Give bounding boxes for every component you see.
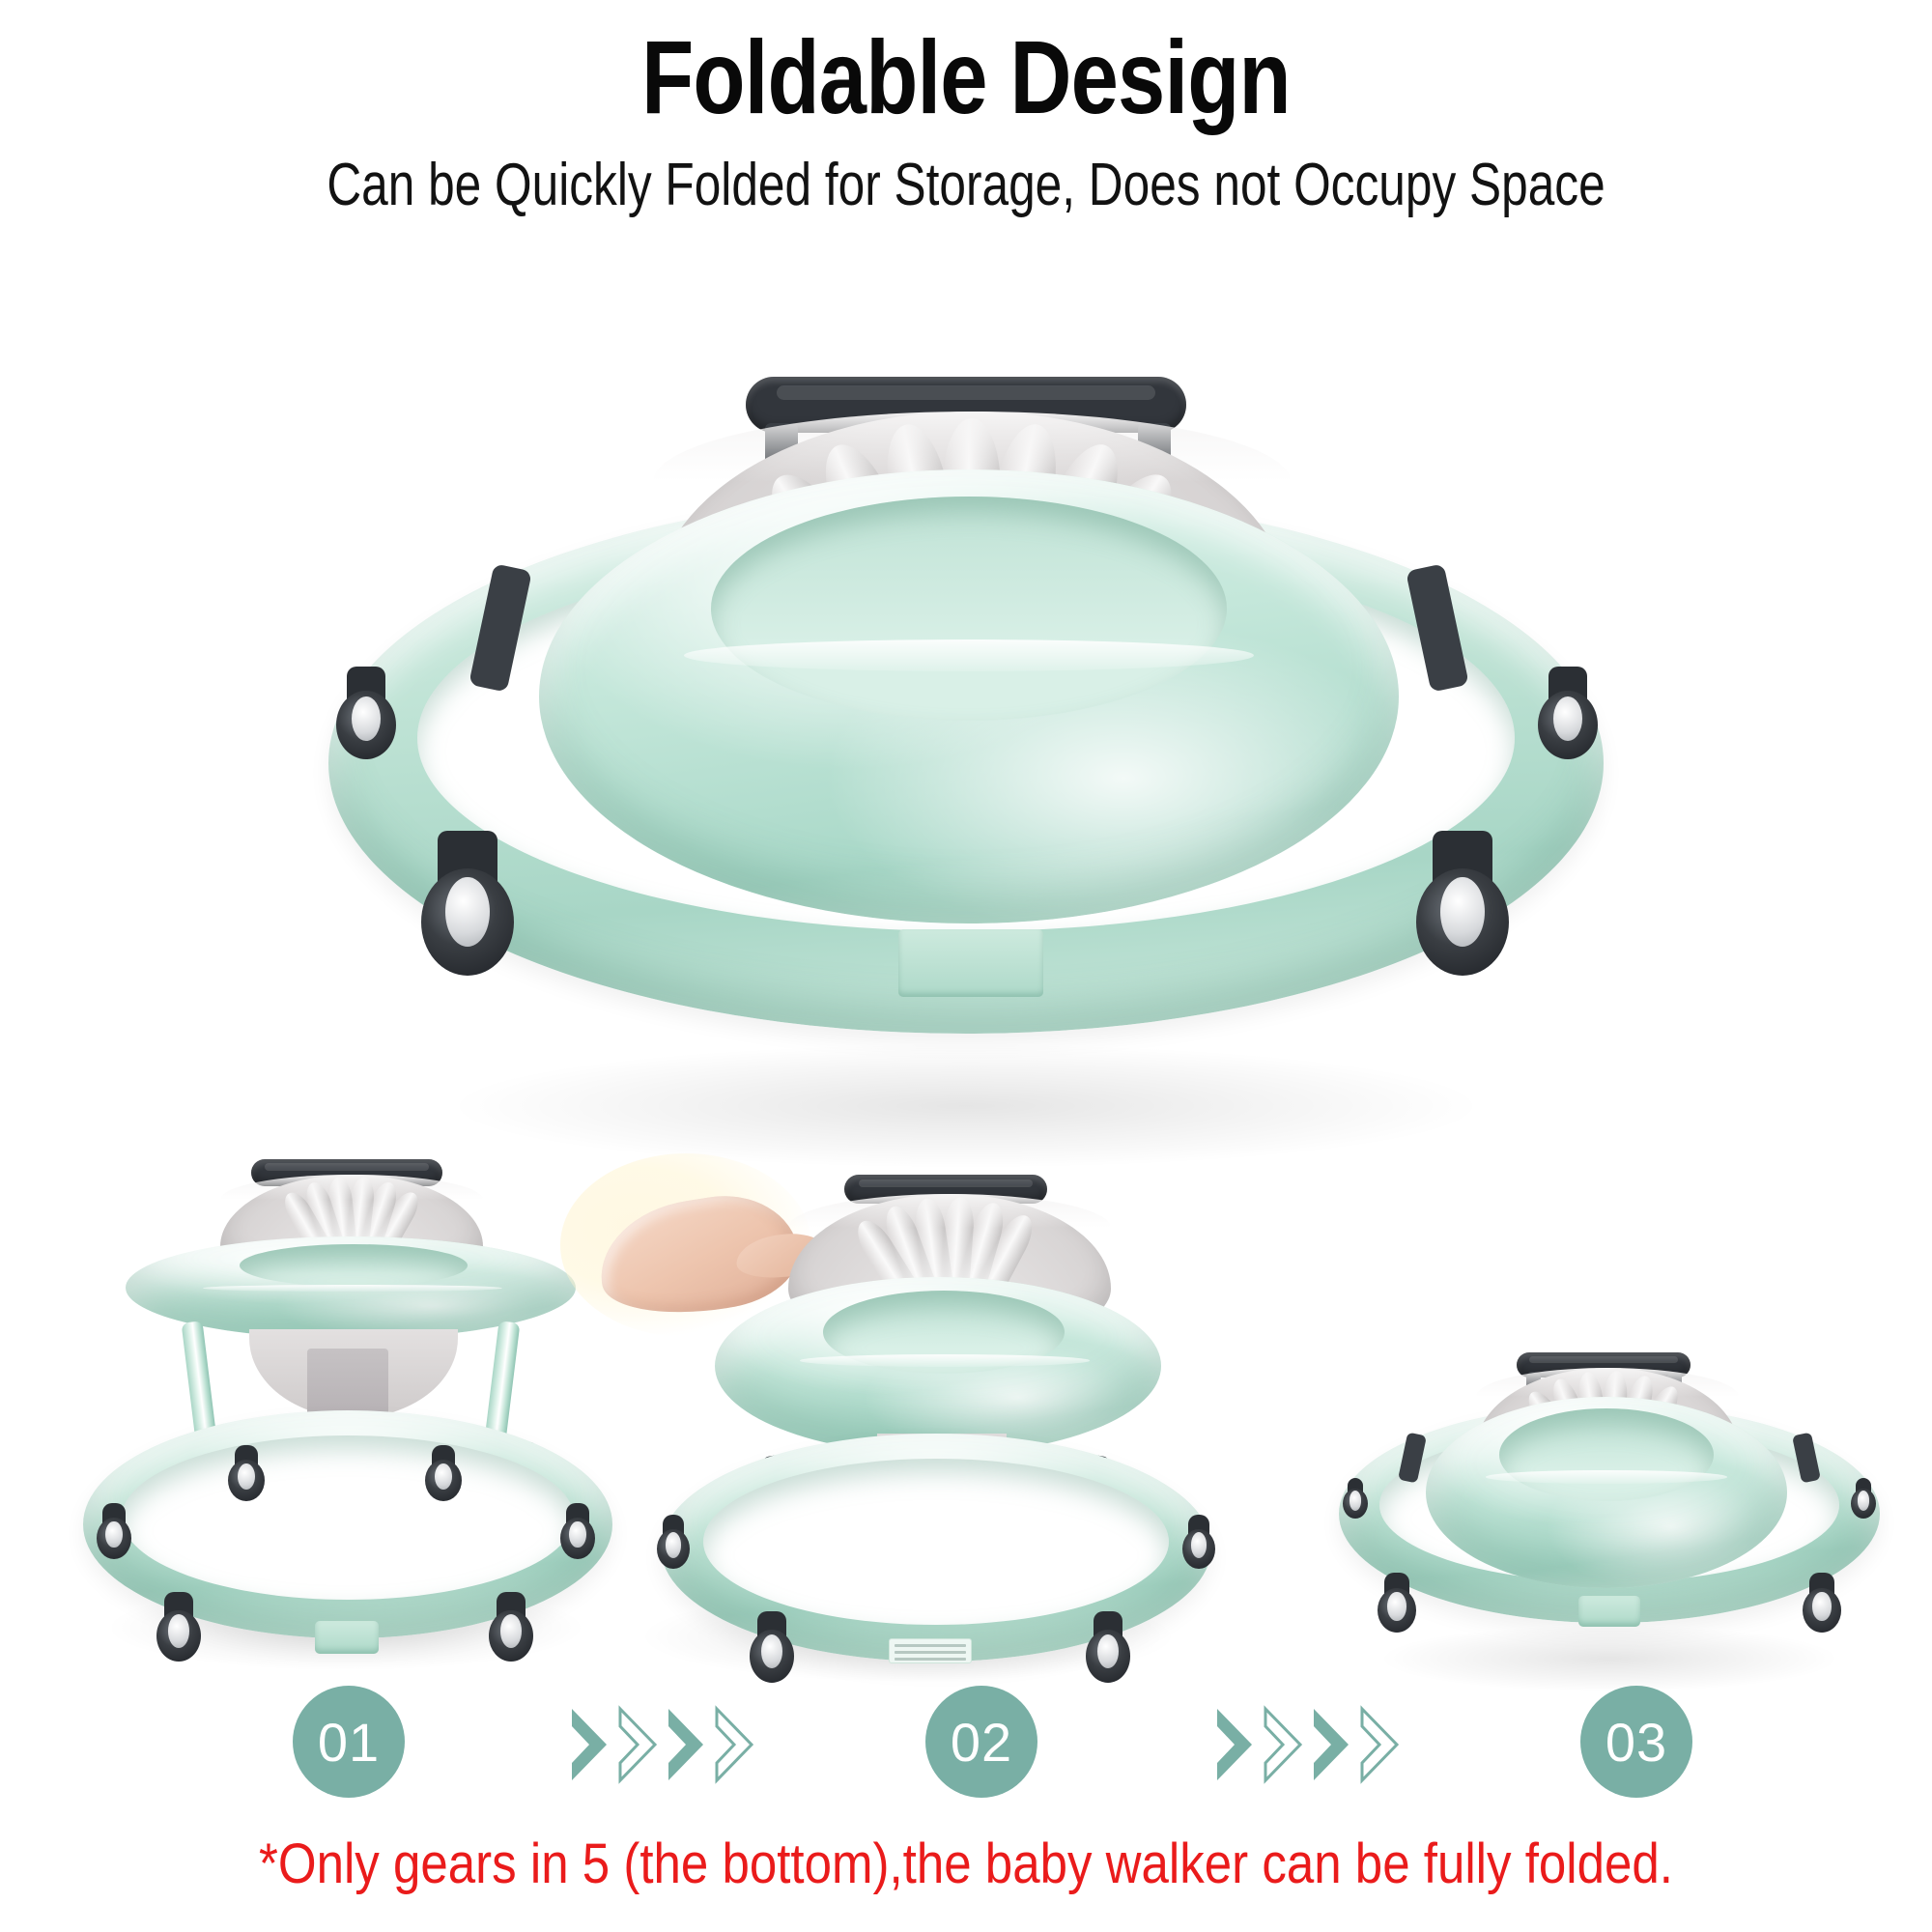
step2-wheel-right: [1182, 1515, 1215, 1569]
step3-wheel-rear-left: [1343, 1478, 1368, 1519]
step1-wheel-mid-right: [560, 1503, 595, 1559]
header: Foldable Design Can be Quickly Folded fo…: [0, 23, 1932, 219]
infographic-page: Foldable Design Can be Quickly Folded fo…: [0, 0, 1932, 1932]
step3-wheel-rear-right: [1851, 1478, 1876, 1519]
step-image-01: [75, 1159, 616, 1671]
step3-wheel-front-right: [1803, 1573, 1841, 1633]
hero-wheel-rear-left: [336, 667, 396, 759]
step3-inner-tray: [1426, 1397, 1787, 1588]
step-badge-03[interactable]: 03: [1580, 1686, 1692, 1798]
step-image-02: [599, 1175, 1217, 1677]
step-badge-03-label: 03: [1605, 1711, 1667, 1774]
step-image-03: [1339, 1352, 1880, 1681]
step1-wheel-inner-left: [228, 1445, 265, 1501]
step-badge-01-label: 01: [318, 1711, 380, 1774]
chevron-right-icon-filled: [1310, 1705, 1352, 1784]
step-indicator-row: 01 02: [0, 1676, 1932, 1831]
arrow-group-1: [568, 1701, 755, 1788]
chevron-right-icon-outline: [1358, 1705, 1401, 1784]
step3-base-block: [1578, 1596, 1640, 1627]
hero-ground-shadow: [444, 1043, 1488, 1169]
step1-wheel-mid-left: [97, 1503, 131, 1559]
step-badge-02-label: 02: [951, 1711, 1012, 1774]
page-subtitle: Can be Quickly Folded for Storage, Does …: [193, 153, 1739, 218]
chevron-right-icon-filled: [1213, 1705, 1256, 1784]
step1-wheel-front-left: [156, 1592, 201, 1662]
chevron-right-icon-filled: [568, 1705, 611, 1784]
step2-upper-tray: [715, 1277, 1161, 1455]
hero-inner-tray: [539, 469, 1399, 923]
step2-product-label: [889, 1638, 972, 1663]
chevron-right-icon-outline: [616, 1705, 659, 1784]
step2-wheel-left: [657, 1515, 690, 1569]
page-title: Foldable Design: [174, 23, 1758, 131]
hero-wheel-front-left: [421, 831, 514, 976]
hero-wheel-front-right: [1416, 831, 1509, 976]
step3-wheel-front-left: [1378, 1573, 1416, 1633]
step-badge-02[interactable]: 02: [925, 1686, 1037, 1798]
step1-wheel-inner-right: [425, 1445, 462, 1501]
footnote-text: *Only gears in 5 (the bottom),the baby w…: [116, 1835, 1816, 1894]
hero-base-block: [898, 929, 1043, 997]
step1-base-block: [315, 1621, 379, 1654]
step1-seat-strap: [307, 1349, 388, 1418]
arrow-group-2: [1213, 1701, 1401, 1788]
step2-wheel-front-right: [1086, 1611, 1130, 1683]
chevron-right-icon-filled: [665, 1705, 707, 1784]
step2-wheel-front-left: [750, 1611, 794, 1683]
chevron-right-icon-outline: [713, 1705, 755, 1784]
step1-wheel-front-right: [489, 1592, 533, 1662]
hero-tray-opening: [711, 497, 1227, 721]
hero-wheel-rear-right: [1538, 667, 1598, 759]
hero-product-image: [328, 377, 1604, 1159]
chevron-right-icon-outline: [1262, 1705, 1304, 1784]
step-badge-01[interactable]: 01: [293, 1686, 405, 1798]
steps-gallery: [0, 1159, 1932, 1700]
hero-tray-lip: [684, 639, 1254, 671]
